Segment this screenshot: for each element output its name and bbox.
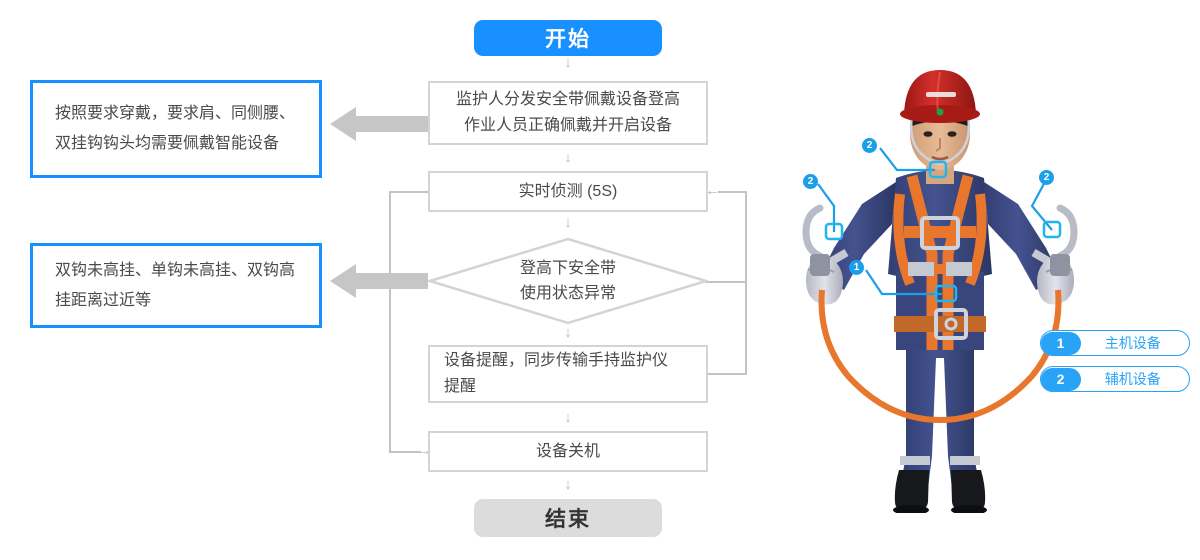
block-arrow-to-abnormal-note [330, 260, 428, 302]
connector-tick-4: ↓ [558, 325, 578, 340]
connector-tick-1: ↓ [558, 55, 578, 70]
callout-marker-2-shoulder: 2 [862, 138, 877, 153]
callout-marker-2-right-hook: 2 [1039, 170, 1054, 185]
connector-tick-6: ↓ [558, 477, 578, 492]
connector-tick-2: ↓ [558, 150, 578, 165]
flow-node-distribute[interactable]: 监护人分发安全带佩戴设备登高 作业人员正确佩戴并开启设备 [428, 81, 708, 145]
note-box-wearing-text: 按照要求穿戴，要求肩、同侧腰、双挂钩钩头均需要佩戴智能设备 [55, 99, 297, 159]
note-box-abnormal: 双钩未高挂、单钩未高挂、双钩高挂距离过近等 [30, 243, 322, 328]
flow-node-detect[interactable]: 实时侦测 (5S) [428, 171, 708, 212]
flow-node-alert[interactable]: 设备提醒，同步传输手持监护仪 提醒 [428, 345, 708, 403]
legend-badge-1: 1 [1041, 332, 1081, 355]
note-box-abnormal-text: 双钩未高挂、单钩未高挂、双钩高挂距离过近等 [55, 256, 297, 316]
connector-tick-3: ↓ [558, 215, 578, 230]
flow-node-detect-label: 实时侦测 (5S) [519, 179, 618, 205]
legend-item-host-device[interactable]: 1 主机设备 [1040, 330, 1190, 356]
feedback-right-arrowhead: ← [705, 181, 725, 201]
feedback-right-bottom-segment [705, 373, 747, 375]
flow-node-shutdown-label: 设备关机 [536, 439, 600, 465]
decision-right-branch [705, 281, 747, 283]
worker-photo: 2 2 2 1 [800, 58, 1080, 513]
legend-label-host-device: 主机设备 [1081, 333, 1190, 353]
decision-diamond-label: 登高下安全带 使用状态异常 [428, 237, 708, 325]
callout-marker-1-waist: 1 [849, 260, 864, 275]
flow-node-alert-label: 设备提醒，同步传输手持监护仪 提醒 [444, 348, 668, 400]
decision-label-line2: 使用状态异常 [520, 281, 616, 306]
flow-start-node[interactable]: 开始 [474, 20, 662, 56]
flow-node-decision[interactable]: 登高下安全带 使用状态异常 [428, 237, 708, 325]
legend-badge-2: 2 [1041, 368, 1081, 391]
feedback-right-vertical [745, 191, 747, 375]
connector-tick-5: ↓ [558, 410, 578, 425]
legend-label-auxiliary-device: 辅机设备 [1081, 369, 1190, 389]
block-arrow-to-wearing-note [330, 103, 428, 145]
flow-node-distribute-label: 监护人分发安全带佩戴设备登高 作业人员正确佩戴并开启设备 [446, 87, 690, 139]
flow-node-shutdown[interactable]: 设备关机 [428, 431, 708, 472]
feedback-left-vertical [389, 191, 391, 452]
callout-leader-lines [800, 58, 1080, 513]
note-box-wearing: 按照要求穿戴，要求肩、同侧腰、双挂钩钩头均需要佩戴智能设备 [30, 80, 322, 178]
callout-marker-2-left-hook: 2 [803, 174, 818, 189]
feedback-left-top-segment [389, 191, 429, 193]
legend-item-auxiliary-device[interactable]: 2 辅机设备 [1040, 366, 1190, 392]
decision-label-line1: 登高下安全带 [520, 256, 616, 281]
legend: 1 主机设备 2 辅机设备 [1040, 330, 1190, 402]
flow-end-node[interactable]: 结束 [474, 499, 662, 537]
diagram-canvas: ↓ ↓ ↓ ↓ ↓ ↓ → ← 开始 监护人分发安全带佩戴设备登高 作业人员正确… [0, 0, 1200, 560]
